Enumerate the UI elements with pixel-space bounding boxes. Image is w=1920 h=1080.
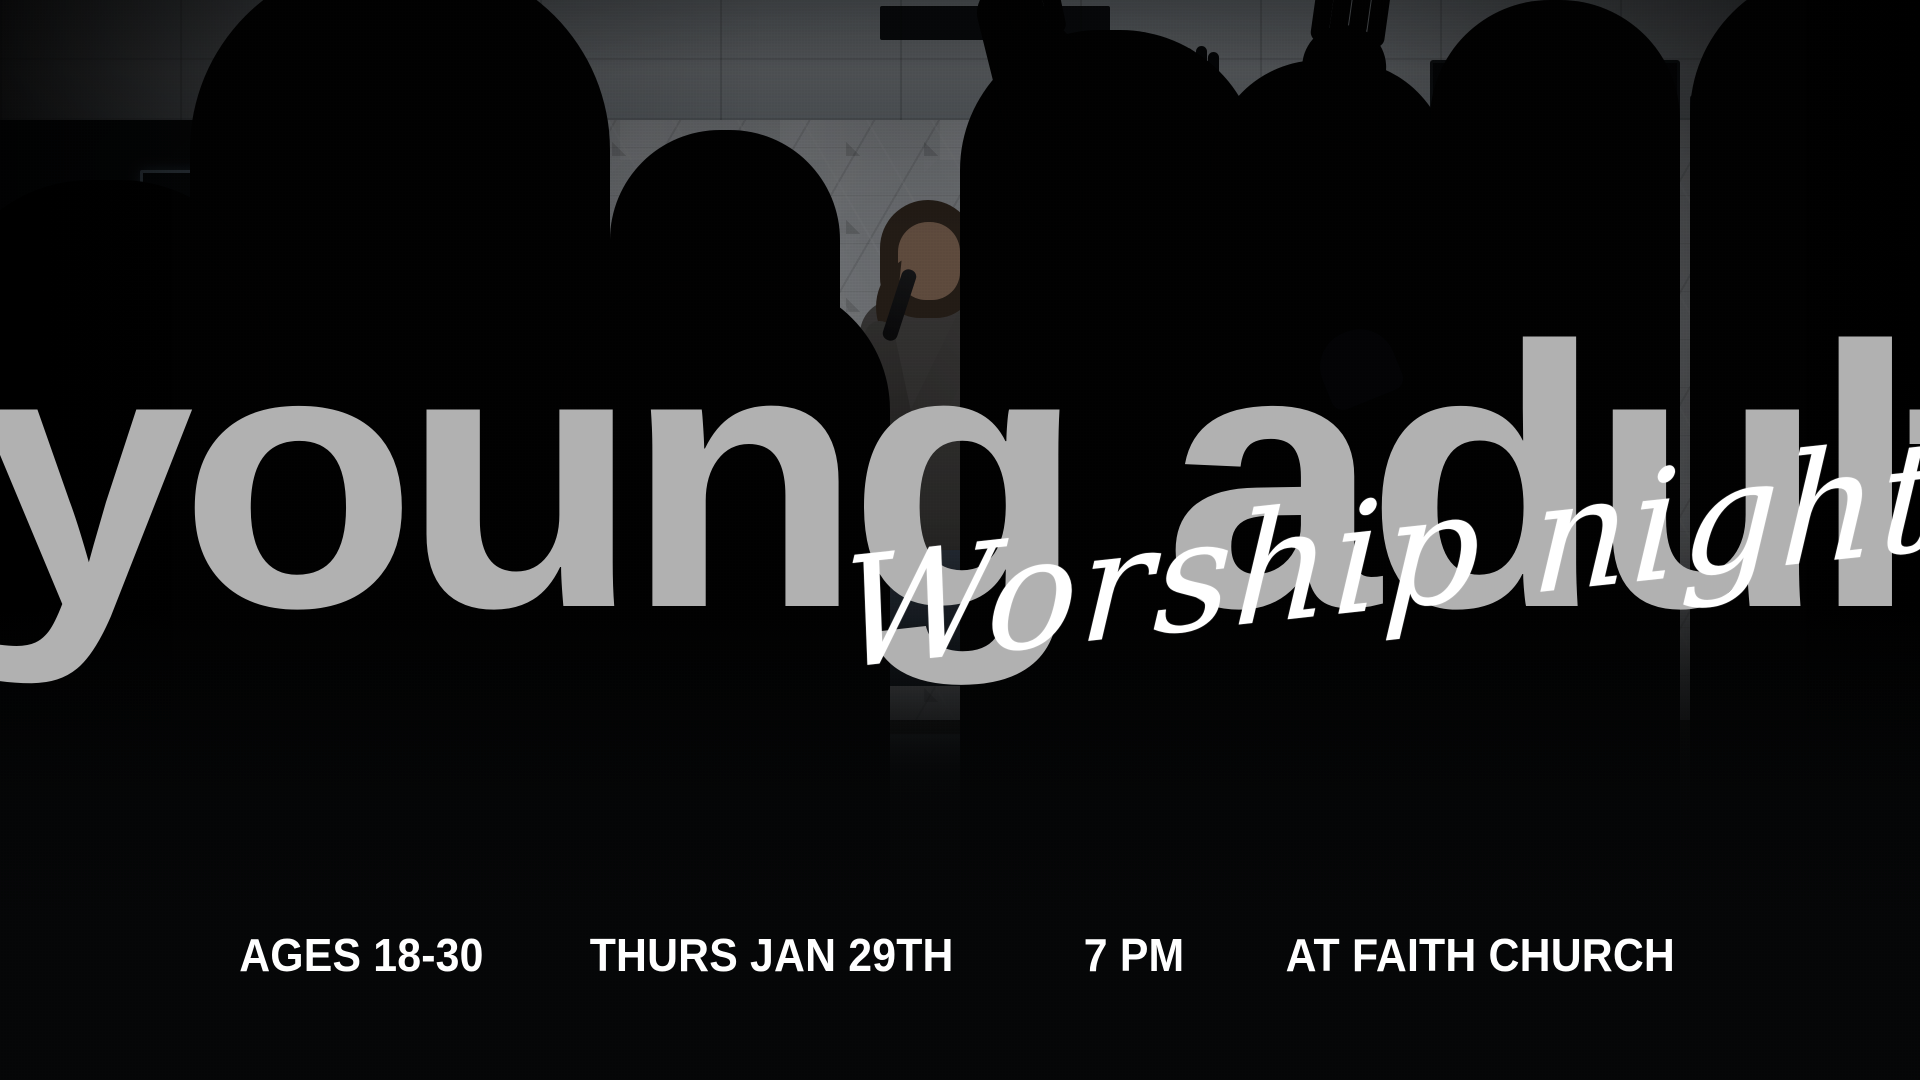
detail-location: AT FAITH CHURCH — [1286, 932, 1675, 978]
detail-date: THURS JAN 29TH — [590, 932, 954, 978]
detail-ages: AGES 18-30 — [239, 932, 483, 978]
poster-canvas: young adult Worship night AGES 18-30 THU… — [0, 0, 1920, 1080]
event-details-row: AGES 18-30 THURS JAN 29TH 7 PM AT FAITH … — [0, 920, 1920, 990]
detail-time: 7 PM — [1084, 932, 1185, 978]
